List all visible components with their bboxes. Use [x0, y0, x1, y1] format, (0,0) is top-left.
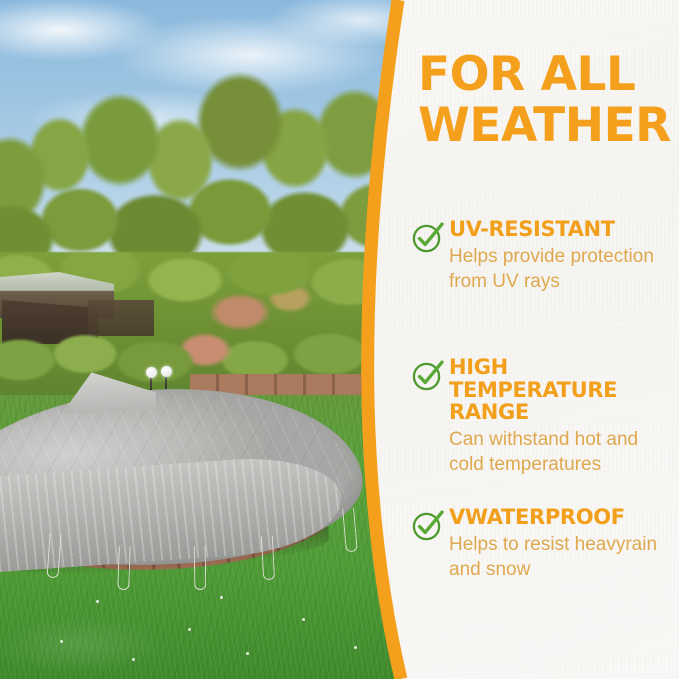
feature-description: Can withstand hot and cold temperatures [449, 427, 679, 477]
lawn-daisy [132, 658, 135, 661]
headline-line-1: FOR ALL [418, 52, 679, 99]
garden-lamp-globe [146, 367, 157, 378]
tie-down-cord [194, 546, 207, 590]
feature-body: HIGH TEMPERATURE RANGE Can withstand hot… [449, 356, 679, 477]
pool-cover-photo [0, 0, 420, 679]
product-feature-infographic: FOR ALL WEATHER UV-RESISTANT Helps provi… [0, 0, 679, 679]
photo-stage [0, 0, 420, 679]
page-title: FOR ALL WEATHER [418, 52, 679, 149]
lawn-daisy [246, 652, 249, 655]
feature-item-high-temperature-range: HIGH TEMPERATURE RANGE Can withstand hot… [407, 356, 679, 477]
feature-title: VWATERPROOF [449, 506, 679, 529]
feature-item-waterproof: VWATERPROOF Helps to resist heavyrain an… [407, 506, 679, 582]
check-circle-icon [411, 220, 445, 254]
lawn-daisy [354, 646, 357, 649]
lawn-daisy [302, 618, 305, 621]
feature-item-uv-resistant: UV-RESISTANT Helps provide protection fr… [407, 218, 679, 294]
garden-lamp-globe [161, 366, 172, 377]
headline-line-2: WEATHER [418, 103, 679, 150]
feature-description: Helps to resist heavyrain and snow [449, 532, 679, 582]
lawn-daisy [96, 600, 99, 603]
lawn-daisy [60, 640, 63, 643]
feature-body: UV-RESISTANT Helps provide protection fr… [449, 218, 679, 294]
lawn-daisy [188, 628, 191, 631]
info-panel-content: FOR ALL WEATHER UV-RESISTANT Helps provi… [405, 0, 679, 679]
feature-body: VWATERPROOF Helps to resist heavyrain an… [449, 506, 679, 582]
check-circle-icon [411, 358, 445, 392]
feature-description: Helps provide protection from UV rays [449, 244, 679, 294]
check-circle-icon [411, 508, 445, 542]
tie-down-cord [261, 536, 275, 581]
lawn-daisy [220, 596, 223, 599]
tie-down-cord [117, 546, 131, 590]
feature-title: UV-RESISTANT [449, 218, 679, 241]
feature-title: HIGH TEMPERATURE RANGE [449, 356, 679, 424]
